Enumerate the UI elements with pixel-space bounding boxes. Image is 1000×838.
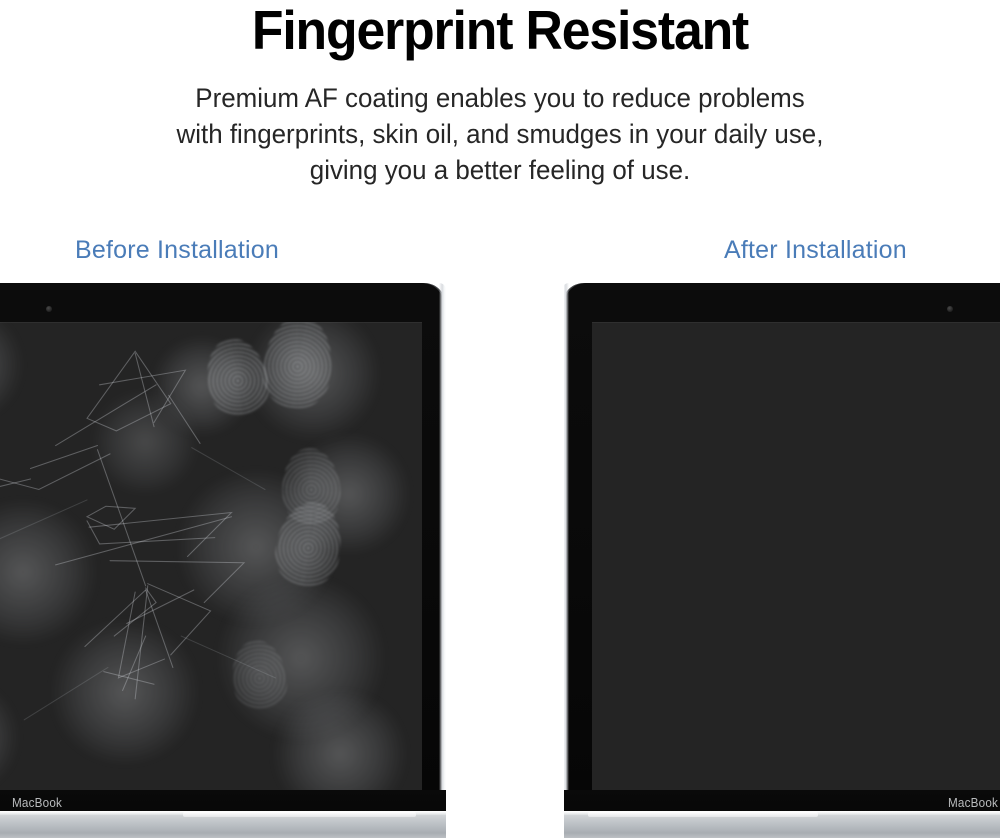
screen-after [592,322,1000,790]
base-hinge-lip [588,812,818,817]
base-hinge-lip [183,812,416,817]
product-feature-panel: Fingerprint Resistant Premium AF coating… [0,0,1000,838]
laptop-base-after [562,811,1000,838]
webcam-icon [46,306,52,312]
webcam-icon [947,306,953,312]
laptop-base-before [0,811,446,838]
lid-chin-before [0,790,446,813]
laptop-before: MacBook [0,283,446,838]
description-text: Premium AF coating enables you to reduce… [20,80,980,188]
laptop-lid-after: MacBook [562,283,1000,813]
lid-edge-highlight [439,283,446,813]
description-line-2: with fingerprints, skin oil, and smudges… [20,116,980,152]
laptop-gutter [446,283,564,838]
laptop-after: MacBook [562,283,1000,838]
base-aluminum-body [562,815,1000,838]
after-installation-caption: After Installation [724,236,907,265]
macbook-wordmark-after: MacBook [948,795,998,810]
scratch-marks [0,322,422,790]
description-line-3: giving you a better feeling of use. [20,152,980,188]
before-installation-caption: Before Installation [75,236,279,265]
laptop-lid-before: MacBook [0,283,446,813]
screen-before [0,322,422,790]
laptop-gutter-foot [446,806,564,838]
lid-chin-after [562,790,1000,813]
macbook-wordmark-before: MacBook [12,795,62,810]
page-title: Fingerprint Resistant [30,0,970,62]
base-aluminum-body [0,815,446,838]
description-line-1: Premium AF coating enables you to reduce… [20,80,980,116]
